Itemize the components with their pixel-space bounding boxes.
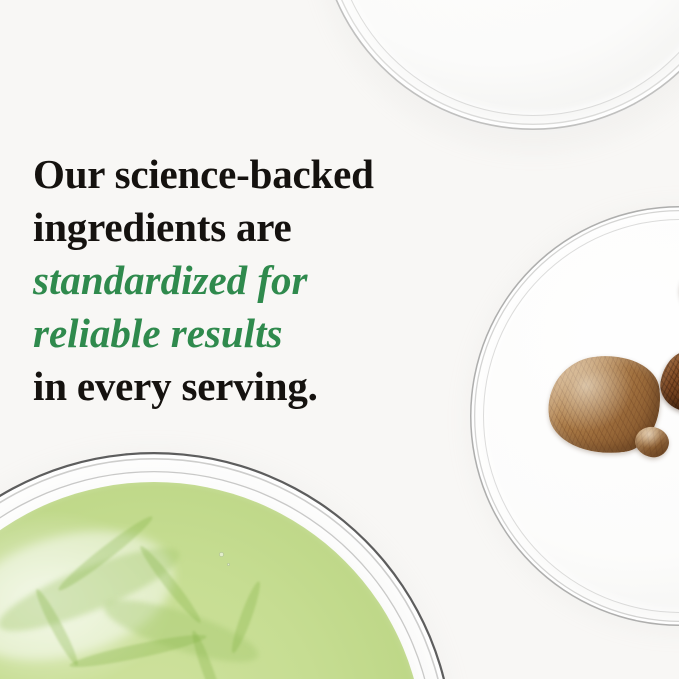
- headline-line-1: Our science-backed: [33, 148, 443, 201]
- green-gel-petri-dish: [0, 452, 454, 679]
- promo-image-canvas: Our science-backed ingredients are stand…: [0, 0, 679, 679]
- dried-root-petri-dish: [470, 206, 679, 626]
- headline-line-5: in every serving.: [33, 360, 443, 413]
- headline-line-4-accent: reliable results: [33, 307, 443, 360]
- root-dish-rim: [470, 206, 679, 626]
- headline-line-2: ingredients are: [33, 201, 443, 254]
- headline-line-3-accent: standardized for: [33, 254, 443, 307]
- headline-block: Our science-backed ingredients are stand…: [33, 148, 443, 413]
- gel-dish-rim: [0, 452, 454, 679]
